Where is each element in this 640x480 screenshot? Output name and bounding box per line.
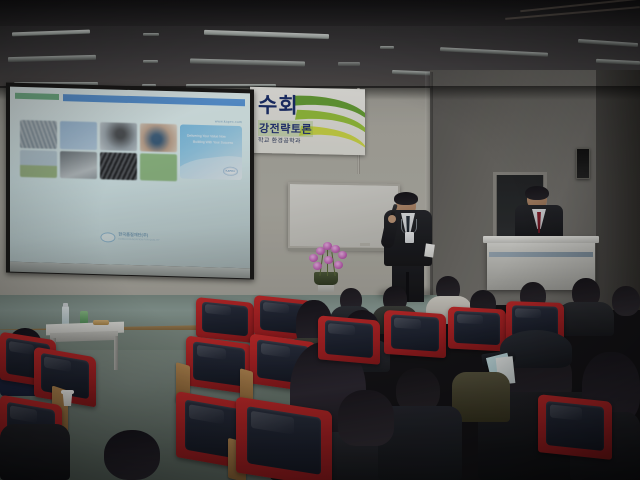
orchid-bloom [324, 256, 333, 264]
presenter-podium-hair [525, 186, 549, 200]
whiteboard-marker [360, 243, 370, 246]
wall-corner [425, 72, 433, 304]
water-bottle-cap [63, 303, 68, 307]
audience-head [104, 430, 160, 480]
slide-panel-logo-text: KAPEC [223, 167, 238, 176]
auditorium-seat[interactable] [318, 315, 380, 364]
auditorium-seat[interactable] [448, 306, 506, 351]
slide-panel-text-1: Delivering Your Value Now [187, 134, 226, 140]
auditorium-seat[interactable] [196, 297, 254, 343]
slide-thumbnail [140, 123, 177, 152]
ceiling-dark-band [0, 0, 640, 26]
slide-panel-text-2: Building With Your Success [193, 140, 233, 146]
ceiling-light [338, 62, 360, 66]
projection-screen: www.kapec.com Delivering Your Value Now … [6, 83, 254, 280]
right-wall-edge [596, 70, 640, 310]
audience-head [338, 390, 394, 446]
ceiling-light [380, 46, 394, 49]
slide-thumbnail [100, 152, 137, 180]
slide-footer-logo: 한국품질재단(주) KOREA FOUNDATION FOR QUALITY [100, 232, 159, 244]
slide-highlight-panel: Delivering Your Value Now Building With … [180, 124, 242, 180]
audience-head [612, 286, 640, 316]
slide-footer-logo-mark [100, 232, 115, 242]
audience-shoulders [0, 424, 70, 480]
slide-thumbnail [60, 151, 97, 179]
ceiling-light [143, 60, 158, 63]
slide-thumbnail-grid [20, 120, 180, 124]
auditorium-seat[interactable] [236, 396, 332, 480]
slide-thumbnail [100, 122, 137, 151]
water-bottle [62, 306, 69, 325]
banner-small-text: 학교 환경공학과 [258, 135, 301, 145]
slide-blue-bar [63, 94, 245, 106]
seat-highlight [394, 318, 421, 330]
banner-title: 수회 [258, 95, 299, 117]
slide-url-text: www.kapec.com [215, 119, 242, 124]
presenter-name-badge [405, 232, 414, 243]
slide-thumbnail [20, 120, 57, 149]
snack-tray [93, 320, 109, 325]
orchid-bloom [309, 254, 318, 262]
seat-highlight [457, 314, 483, 325]
side-table-leg [114, 336, 118, 370]
seat-highlight [515, 308, 541, 318]
podium-accent-band [489, 252, 593, 257]
presenter-hair [394, 192, 418, 205]
slide-thumbnail [60, 121, 97, 150]
ceiling-light [143, 33, 159, 36]
auditorium-seat[interactable] [538, 394, 612, 460]
presenter-hand [388, 215, 396, 223]
audience-shoulders [558, 302, 614, 336]
auditorium-seat[interactable] [384, 310, 446, 358]
slide-panel-logo: KAPEC [223, 167, 238, 176]
wall-mounted-speaker [576, 148, 590, 179]
orchid-bloom [313, 262, 322, 270]
slide-thumbnail [20, 150, 57, 178]
orchid-bloom [338, 251, 347, 259]
slide-footer-company-sub: KOREA FOUNDATION FOR QUALITY [118, 238, 159, 244]
slide-thumbnail [140, 153, 177, 181]
presenter-paper [424, 243, 435, 257]
event-banner: 수회 강전략토론 학교 환경공학과 [250, 87, 365, 155]
orchid-bloom [334, 261, 343, 269]
slide-green-bar [15, 93, 59, 100]
podium-top-surface [483, 236, 599, 243]
auditorium-photo: 수회 강전략토론 학교 환경공학과 www.kapec.com Deliveri… [0, 0, 640, 480]
projection-screen-surface: www.kapec.com Delivering Your Value Now … [10, 87, 250, 269]
